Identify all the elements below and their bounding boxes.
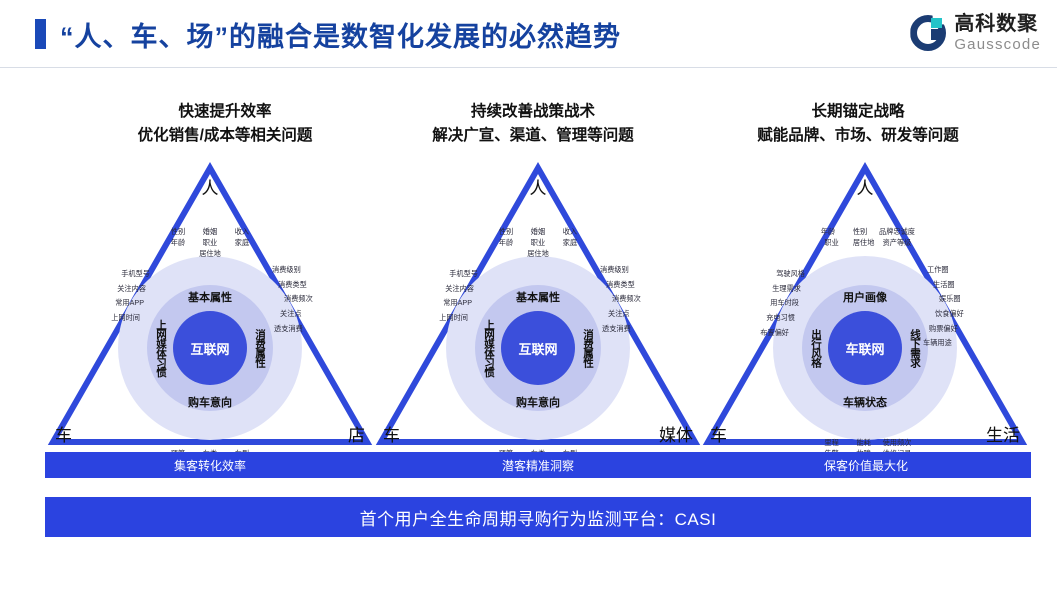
satellite-right-0: 消费级别消费类型消费频次关注点透支消费 [276, 264, 313, 337]
satellite-top-1: 性别婚姻收入年龄职业家庭居住地 [490, 226, 586, 259]
satellite-item: 生活圈 [933, 279, 964, 290]
triangle-apex-label: 人 [530, 174, 547, 199]
column-heading-0: 快速提升效率 优化销售/成本等相关问题 [60, 100, 390, 148]
satellite-item: 年龄 [815, 226, 841, 237]
satellite-row: 职业居住地资产等级 [812, 237, 918, 248]
satellite-item: 职业 [525, 237, 551, 248]
quadrant-right-label: 消费属性 [253, 329, 268, 367]
core-circle: 互联网 [501, 311, 575, 385]
quadrant-bottom-label: 购车意向 [446, 394, 630, 410]
satellite-item: 性别 [493, 226, 519, 237]
satellite-top-0: 性别婚姻收入年龄职业家庭居住地 [162, 226, 258, 259]
satellite-item: 职业 [197, 237, 223, 248]
satellite-row: 性别婚姻收入 [162, 226, 258, 237]
triangle-bottom-right-label: 店 [348, 421, 365, 446]
logo-text-en: Gausscode [954, 37, 1041, 52]
satellite-item: 透支消费 [602, 323, 641, 334]
satellite-item: 关注内容 [439, 283, 474, 294]
satellite-item: 关注点 [280, 308, 313, 319]
satellite-item: 购票偏好 [929, 323, 964, 334]
satellite-item: 里程 [819, 437, 845, 448]
satellite-row: 年龄职业家庭 [490, 237, 586, 248]
satellite-item: 驾驶风格 [760, 268, 805, 279]
core-label: 车联网 [845, 339, 884, 358]
satellite-item: 收入 [229, 226, 255, 237]
quadrant-bottom-label: 购车意向 [118, 394, 302, 410]
page-header: “人、车、场”的融合是数智化发展的必然趋势 高科数聚 Gausscode [0, 0, 1057, 68]
satellite-right-1: 消费级别消费类型消费频次关注点透支消费 [604, 264, 641, 337]
satellite-item: 常用APP [439, 297, 472, 308]
satellite-item: 资产等级 [883, 237, 912, 248]
satellite-item: 车辆用途 [923, 337, 964, 348]
triangle-bottom-left-label: 车 [383, 421, 400, 446]
satellite-row: 年龄性别品牌忠诚度 [812, 226, 918, 237]
triangle-bottom-left-label: 车 [710, 421, 727, 446]
sub-bar-0: 集客转化效率 [45, 452, 375, 478]
satellite-item: 年龄 [165, 237, 191, 248]
column-heading-1: 持续改善战策战术 解决广宣、渠道、管理等问题 [368, 100, 698, 148]
column-heading-line1: 长期锚定战略 [693, 100, 1023, 124]
satellite-item: 婚姻 [197, 226, 223, 237]
core-label: 互联网 [190, 339, 229, 358]
satellite-item: 关注点 [608, 308, 641, 319]
core-label: 互联网 [518, 339, 557, 358]
satellite-item: 饮食偏好 [935, 308, 964, 319]
satellite-item: 关注内容 [111, 283, 146, 294]
satellite-left-1: 手机型号关注内容常用APP上网时间 [439, 268, 472, 327]
satellite-item: 收入 [557, 226, 583, 237]
column-heading-line2: 赋能品牌、市场、研发等问题 [693, 124, 1023, 148]
triangle-apex-label: 人 [857, 174, 874, 199]
quadrant-left-label: 上网媒体习惯 [482, 320, 497, 377]
column-heading-line1: 快速提升效率 [60, 100, 390, 124]
satellite-item: 上网时间 [111, 312, 140, 323]
satellite-row: 里程能耗使用频次 [816, 437, 915, 448]
satellite-item: 工作圈 [927, 264, 964, 275]
satellite-item: 居住地 [197, 248, 223, 259]
triangle-apex-label: 人 [202, 174, 219, 199]
satellite-item: 居住地 [851, 237, 877, 248]
triangle-bottom-left-label: 车 [55, 421, 72, 446]
satellite-row: 居住地 [162, 248, 258, 259]
concentric-diagram-0: 互联网 基本属性 购车意向 上网媒体习惯 消费属性 性别婚姻收入年龄职业家庭居住… [118, 256, 302, 440]
core-circle: 车联网 [828, 311, 902, 385]
satellite-item: 性别 [847, 226, 873, 237]
quadrant-left-label: 上网媒体习惯 [154, 320, 169, 377]
satellite-item: 手机型号 [111, 268, 150, 279]
satellite-item: 用车时段 [760, 297, 799, 308]
concentric-diagram-1: 互联网 基本属性 购车意向 上网媒体习惯 消费属性 性别婚姻收入年龄职业家庭居住… [446, 256, 630, 440]
concentric-diagram-2: 车联网 用户画像 车辆状态 出行风格 线下需求 年龄性别品牌忠诚度职业居住地资产… [773, 256, 957, 440]
satellite-item: 居住地 [525, 248, 551, 259]
satellite-item: 透支消费 [274, 323, 313, 334]
satellite-item: 使用频次 [883, 437, 912, 448]
column-heading-line2: 解决广宣、渠道、管理等问题 [368, 124, 698, 148]
satellite-item: 充电习惯 [760, 312, 795, 323]
satellite-row: 年龄职业家庭 [162, 237, 258, 248]
satellite-item: 年龄 [493, 237, 519, 248]
satellite-item: 生理需求 [760, 283, 801, 294]
satellite-item: 消费类型 [278, 279, 313, 290]
satellite-item: 布置偏好 [760, 327, 789, 338]
satellite-top-2: 年龄性别品牌忠诚度职业居住地资产等级 [812, 226, 918, 248]
triangle-bottom-right-label: 媒体 [659, 421, 693, 446]
satellite-item: 消费频次 [612, 293, 641, 304]
satellite-left-0: 手机型号关注内容常用APP上网时间 [111, 268, 144, 327]
title-bullet-icon [35, 19, 46, 49]
satellite-item: 消费级别 [272, 264, 313, 275]
gausscode-logo-icon [910, 15, 946, 51]
triangle-bottom-right-label: 生活 [986, 421, 1020, 446]
satellite-item: 家庭 [557, 237, 583, 248]
footer-platform-bar: 首个用户全生命周期寻购行为监测平台：CASI [45, 497, 1031, 537]
brand-logo: 高科数聚 Gausscode [910, 14, 1041, 52]
satellite-item: 能耗 [851, 437, 877, 448]
triangle-panel-1: 人 车 媒体 互联网 基本属性 购车意向 上网媒体习惯 消费属性 性别婚姻收入年… [373, 160, 703, 450]
satellite-row: 居住地 [490, 248, 586, 259]
satellite-item: 手机型号 [439, 268, 478, 279]
column-heading-line2: 优化销售/成本等相关问题 [60, 124, 390, 148]
triangle-panel-0: 人 车 店 互联网 基本属性 购车意向 上网媒体习惯 消费属性 性别婚姻收入年龄… [45, 160, 375, 450]
sub-bar-1: 潜客精准洞察 [373, 452, 703, 478]
quadrant-right-label: 线下需求 [908, 329, 923, 367]
quadrant-right-label: 消费属性 [581, 329, 596, 367]
quadrant-bottom-label: 车辆状态 [773, 394, 957, 410]
satellite-item: 消费频次 [284, 293, 313, 304]
column-heading-2: 长期锚定战略 赋能品牌、市场、研发等问题 [693, 100, 1023, 148]
column-heading-line1: 持续改善战策战术 [368, 100, 698, 124]
core-circle: 互联网 [173, 311, 247, 385]
satellite-item: 性别 [165, 226, 191, 237]
page-title: “人、车、场”的融合是数智化发展的必然趋势 [60, 15, 621, 54]
satellite-right-2: 工作圈生活圈娱乐圈饮食偏好购票偏好车辆用途 [931, 264, 964, 352]
satellite-item: 婚姻 [525, 226, 551, 237]
quadrant-left-label: 出行风格 [809, 329, 824, 367]
satellite-item: 职业 [819, 237, 845, 248]
satellite-item: 常用APP [111, 297, 144, 308]
satellite-item: 家庭 [229, 237, 255, 248]
triangle-panel-2: 人 车 生活 车联网 用户画像 车辆状态 出行风格 线下需求 年龄性别品牌忠诚度… [700, 160, 1030, 450]
satellite-row: 性别婚姻收入 [490, 226, 586, 237]
satellite-item: 品牌忠诚度 [879, 226, 915, 237]
satellite-left-2: 驾驶风格生理需求用车时段充电习惯布置偏好 [760, 268, 799, 341]
header-divider [0, 67, 1057, 68]
satellite-item: 上网时间 [439, 312, 468, 323]
satellite-item: 娱乐圈 [939, 293, 964, 304]
satellite-item: 消费类型 [606, 279, 641, 290]
sub-bar-2: 保客价值最大化 [701, 452, 1031, 478]
satellite-item: 消费级别 [600, 264, 641, 275]
logo-text-cn: 高科数聚 [954, 14, 1041, 34]
